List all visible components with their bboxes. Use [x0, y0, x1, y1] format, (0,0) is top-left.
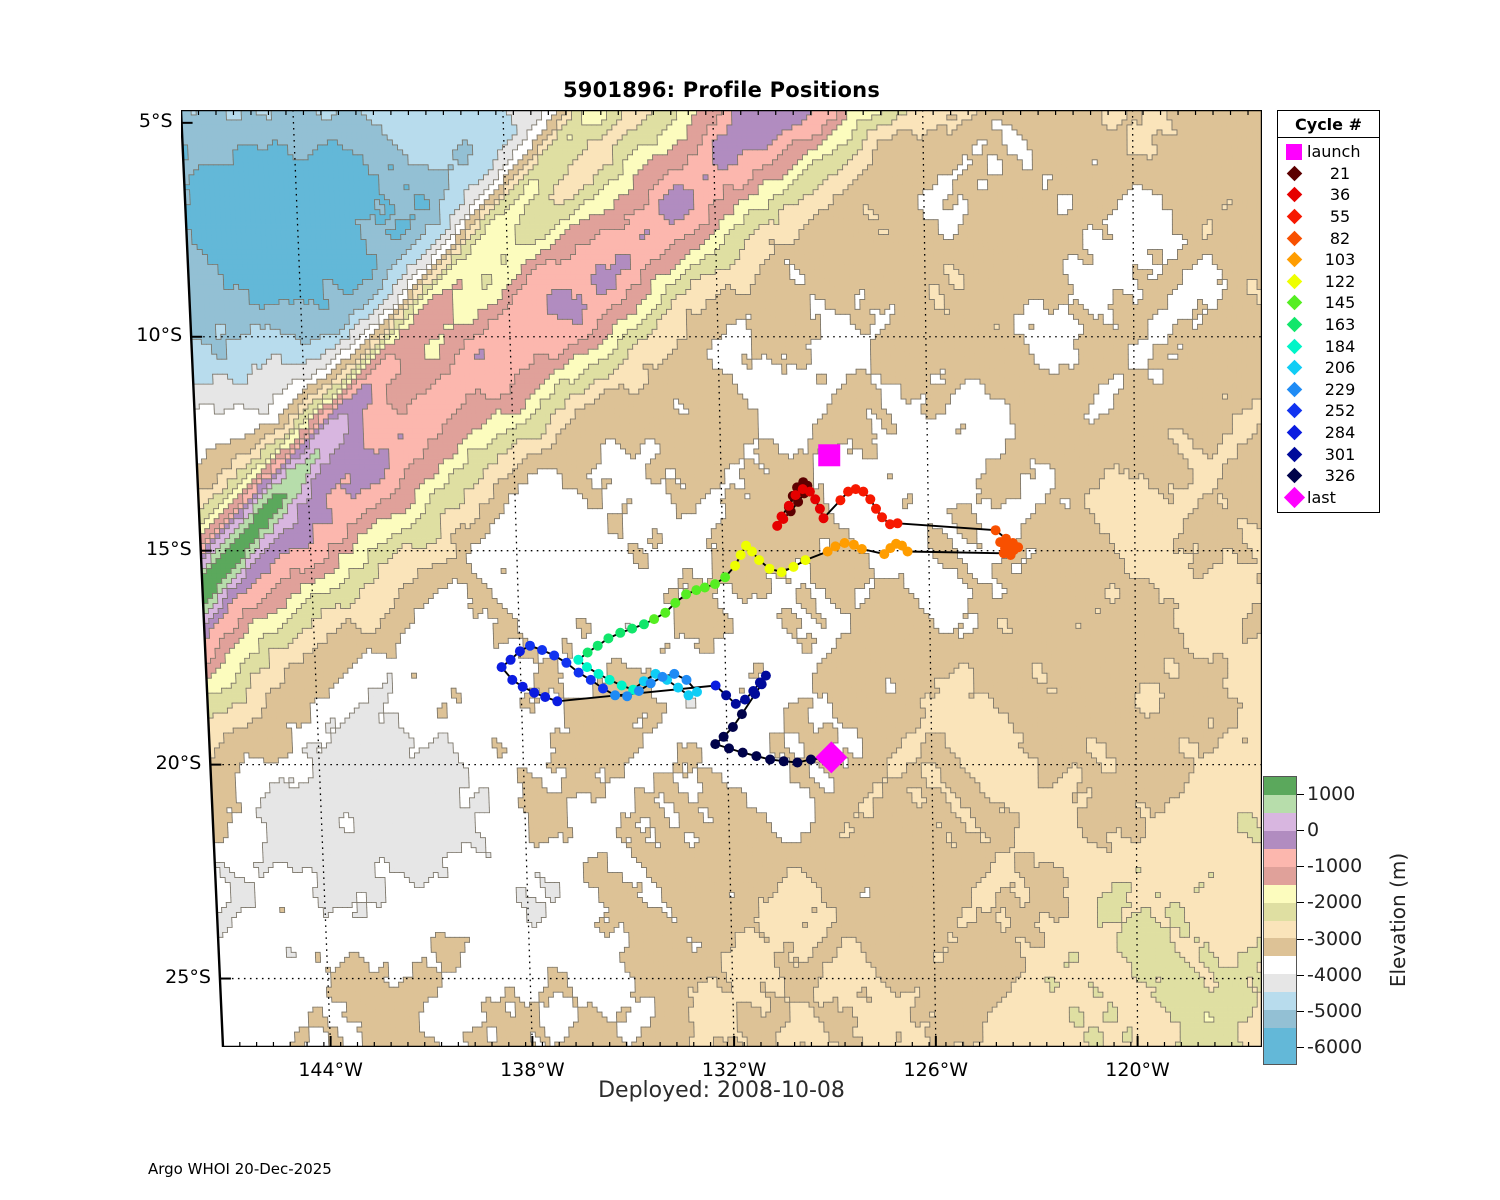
colorbar-tick-label: 0: [1307, 819, 1319, 841]
colorbar-tick-label: -2000: [1307, 891, 1362, 913]
legend-row-36[interactable]: 36: [1278, 184, 1379, 206]
legend-row-82[interactable]: 82: [1278, 227, 1379, 249]
colorbar-tick: [1297, 939, 1304, 940]
legend-label: 36: [1305, 185, 1379, 204]
legend-marker-icon: [1283, 276, 1305, 287]
footer-credit: Argo WHOI 20-Dec-2025: [148, 1160, 332, 1178]
legend-row-145[interactable]: 145: [1278, 292, 1379, 314]
legend-label: 122: [1305, 272, 1379, 291]
legend-label: launch: [1305, 142, 1379, 161]
cycle-legend-title: Cycle #: [1278, 111, 1379, 138]
colorbar-tick-label: 1000: [1307, 783, 1355, 805]
legend-row-launch[interactable]: launch: [1278, 141, 1379, 163]
colorbar-tick: [1297, 902, 1304, 903]
cycle-legend[interactable]: Cycle # launch21365582103122145163184206…: [1277, 110, 1380, 513]
colorbar-band: [1264, 795, 1296, 813]
colorbar-tick: [1297, 866, 1304, 867]
legend-label: 184: [1305, 337, 1379, 356]
colorbar-band: [1264, 849, 1296, 867]
map-clip: [181, 110, 1262, 1047]
legend-row-206[interactable]: 206: [1278, 357, 1379, 379]
colorbar-tick-label: -6000: [1307, 1036, 1362, 1058]
lat-tick-label: 25°S: [115, 966, 211, 988]
legend-row-326[interactable]: 326: [1278, 465, 1379, 487]
legend-row-55[interactable]: 55: [1278, 206, 1379, 228]
legend-label: 163: [1305, 315, 1379, 334]
deployed-date-label: Deployed: 2008-10-08: [181, 1078, 1262, 1103]
legend-label: 145: [1305, 293, 1379, 312]
legend-label: last: [1305, 488, 1379, 507]
legend-marker-icon: [1283, 490, 1305, 505]
colorbar-band: [1264, 831, 1296, 849]
legend-marker-icon: [1283, 319, 1305, 330]
page-title: 5901896: Profile Positions: [181, 78, 1262, 102]
colorbar-tick: [1297, 975, 1304, 976]
legend-row-229[interactable]: 229: [1278, 379, 1379, 401]
legend-label: 284: [1305, 423, 1379, 442]
colorbar-band: [1264, 921, 1296, 939]
legend-label: 82: [1305, 229, 1379, 248]
legend-label: 21: [1305, 164, 1379, 183]
legend-marker-icon: [1283, 254, 1305, 265]
lat-tick-label: 15°S: [96, 538, 192, 560]
colorbar-tick-label: -5000: [1307, 1000, 1362, 1022]
legend-marker-icon: [1283, 144, 1305, 160]
colorbar-band: [1264, 777, 1296, 795]
legend-label: 301: [1305, 445, 1379, 464]
legend-label: 55: [1305, 207, 1379, 226]
legend-row-284[interactable]: 284: [1278, 422, 1379, 444]
legend-marker-icon: [1283, 427, 1305, 438]
legend-row-252[interactable]: 252: [1278, 400, 1379, 422]
legend-marker-icon: [1283, 211, 1305, 222]
legend-marker-icon: [1283, 384, 1305, 395]
legend-marker-icon: [1283, 470, 1305, 481]
colorbar-tick: [1297, 1011, 1304, 1012]
legend-row-184[interactable]: 184: [1278, 335, 1379, 357]
legend-row-122[interactable]: 122: [1278, 271, 1379, 293]
colorbar-tick: [1297, 1047, 1304, 1048]
legend-marker-icon: [1283, 233, 1305, 244]
lat-tick-label: 10°S: [86, 324, 182, 346]
colorbar-band: [1264, 974, 1296, 992]
cycle-legend-body: launch2136558210312214516318420622925228…: [1278, 138, 1379, 512]
colorbar-band: [1264, 938, 1296, 956]
colorbar-band: [1264, 813, 1296, 831]
lat-tick-label: 20°S: [105, 752, 201, 774]
legend-row-last[interactable]: last: [1278, 487, 1379, 509]
lat-tick-label: 5°S: [77, 110, 173, 132]
legend-marker-icon: [1283, 168, 1305, 179]
legend-marker-icon: [1283, 189, 1305, 200]
map-canvas: [181, 110, 1262, 1047]
legend-row-21[interactable]: 21: [1278, 163, 1379, 185]
colorbar-tick: [1297, 830, 1304, 831]
colorbar-axis-label: Elevation (m): [1386, 853, 1410, 987]
legend-marker-icon: [1283, 449, 1305, 460]
colorbar-tick-label: -1000: [1307, 855, 1362, 877]
colorbar-tick: [1297, 794, 1304, 795]
legend-label: 103: [1305, 250, 1379, 269]
colorbar-band: [1264, 992, 1296, 1010]
legend-row-301[interactable]: 301: [1278, 443, 1379, 465]
legend-marker-icon: [1283, 405, 1305, 416]
colorbar-band: [1264, 903, 1296, 921]
legend-label: 326: [1305, 466, 1379, 485]
legend-row-163[interactable]: 163: [1278, 314, 1379, 336]
legend-label: 252: [1305, 401, 1379, 420]
colorbar-tick-label: -3000: [1307, 928, 1362, 950]
legend-label: 229: [1305, 380, 1379, 399]
elevation-colorbar[interactable]: [1263, 776, 1297, 1065]
legend-label: 206: [1305, 358, 1379, 377]
legend-marker-icon: [1283, 362, 1305, 373]
colorbar-band: [1264, 1028, 1296, 1064]
colorbar-band: [1264, 956, 1296, 974]
legend-row-103[interactable]: 103: [1278, 249, 1379, 271]
legend-marker-icon: [1283, 341, 1305, 352]
colorbar-band: [1264, 867, 1296, 885]
map-plot-area[interactable]: [181, 110, 1262, 1047]
colorbar-band: [1264, 885, 1296, 903]
colorbar-band: [1264, 1010, 1296, 1028]
legend-marker-icon: [1283, 297, 1305, 308]
figure-root: 5901896: Profile Positions 5°S10°S15°S20…: [0, 0, 1500, 1200]
colorbar-tick-label: -4000: [1307, 964, 1362, 986]
